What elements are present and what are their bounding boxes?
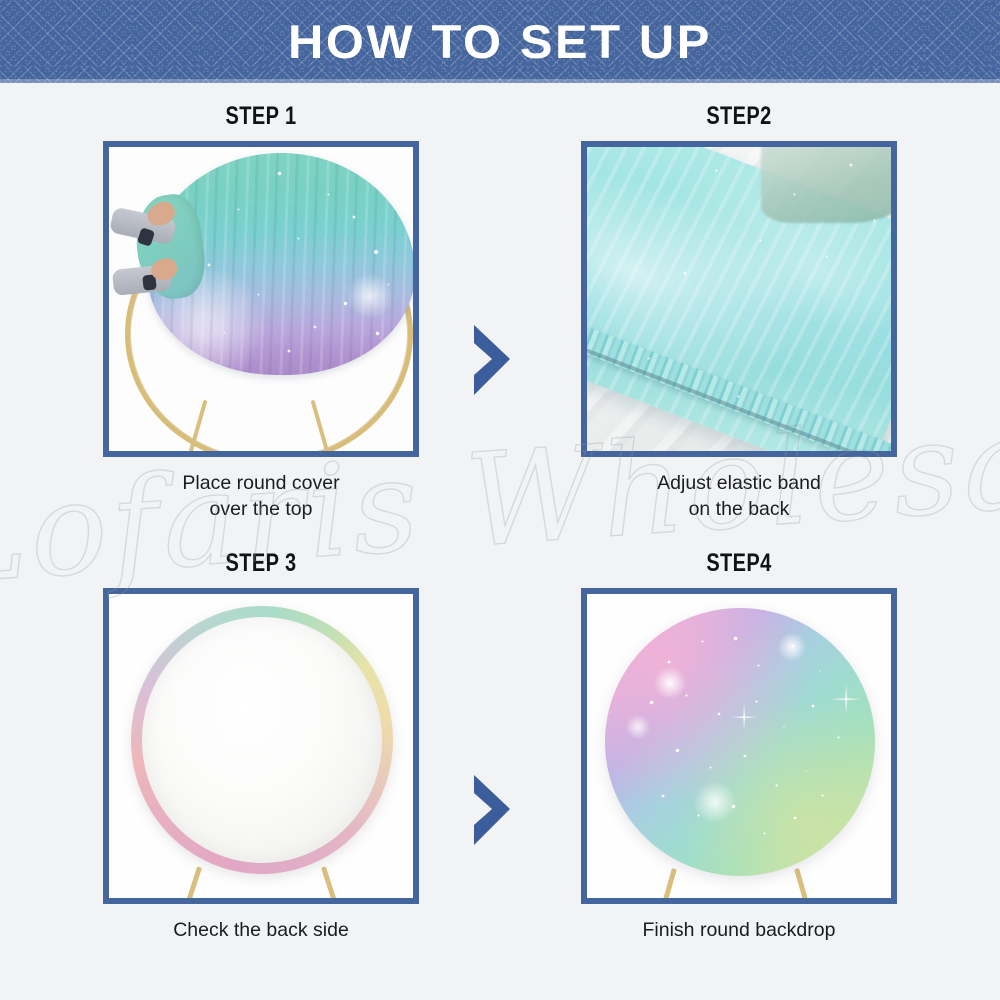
caption-line: Adjust elastic band — [544, 470, 934, 496]
step-card-3: STEP 3 Check the back side — [66, 548, 456, 943]
gradient-rim — [131, 606, 393, 874]
step-label-4: STEP4 — [583, 548, 895, 578]
step-image-frame-4 — [581, 588, 897, 904]
how-to-set-up-infographic: HOW TO SET UP Lofaris Wholesale STEP 1 — [0, 0, 1000, 1000]
white-back-face — [142, 617, 382, 863]
step-image-frame-2 — [581, 141, 897, 457]
step-illustration-4 — [587, 594, 891, 898]
step-image-frame-1 — [103, 141, 419, 457]
step-illustration-3 — [109, 594, 413, 898]
star-speckles — [605, 608, 875, 876]
step-caption-2: Adjust elastic band on the back — [544, 470, 934, 522]
step-illustration-1 — [109, 147, 413, 451]
step-card-4: STEP4 F — [544, 548, 934, 943]
step-image-frame-3 — [103, 588, 419, 904]
star-speckles — [587, 147, 891, 451]
caption-line: Place round cover — [66, 470, 456, 496]
step-caption-4: Finish round backdrop — [544, 917, 934, 943]
caption-line: Check the back side — [66, 917, 456, 943]
step-caption-1: Place round cover over the top — [66, 470, 456, 522]
step-card-1: STEP 1 — [66, 101, 456, 522]
step-label-1: STEP 1 — [105, 101, 417, 131]
fabric-sheen — [347, 273, 393, 319]
finished-round-backdrop — [605, 608, 875, 876]
step-illustration-2 — [587, 147, 891, 451]
caption-line: Finish round backdrop — [544, 917, 934, 943]
chevron-right-icon — [470, 773, 514, 847]
header-banner: HOW TO SET UP — [0, 0, 1000, 83]
steps-grid: STEP 1 — [0, 83, 1000, 1000]
caption-line: over the top — [66, 496, 456, 522]
page-title: HOW TO SET UP — [0, 0, 1000, 83]
step-card-2: STEP2 Adjust elastic band on the back — [544, 101, 934, 522]
step-caption-3: Check the back side — [66, 917, 456, 943]
caption-line: on the back — [544, 496, 934, 522]
step-label-3: STEP 3 — [105, 548, 417, 578]
chevron-right-icon — [470, 323, 514, 397]
step-label-2: STEP2 — [583, 101, 895, 131]
